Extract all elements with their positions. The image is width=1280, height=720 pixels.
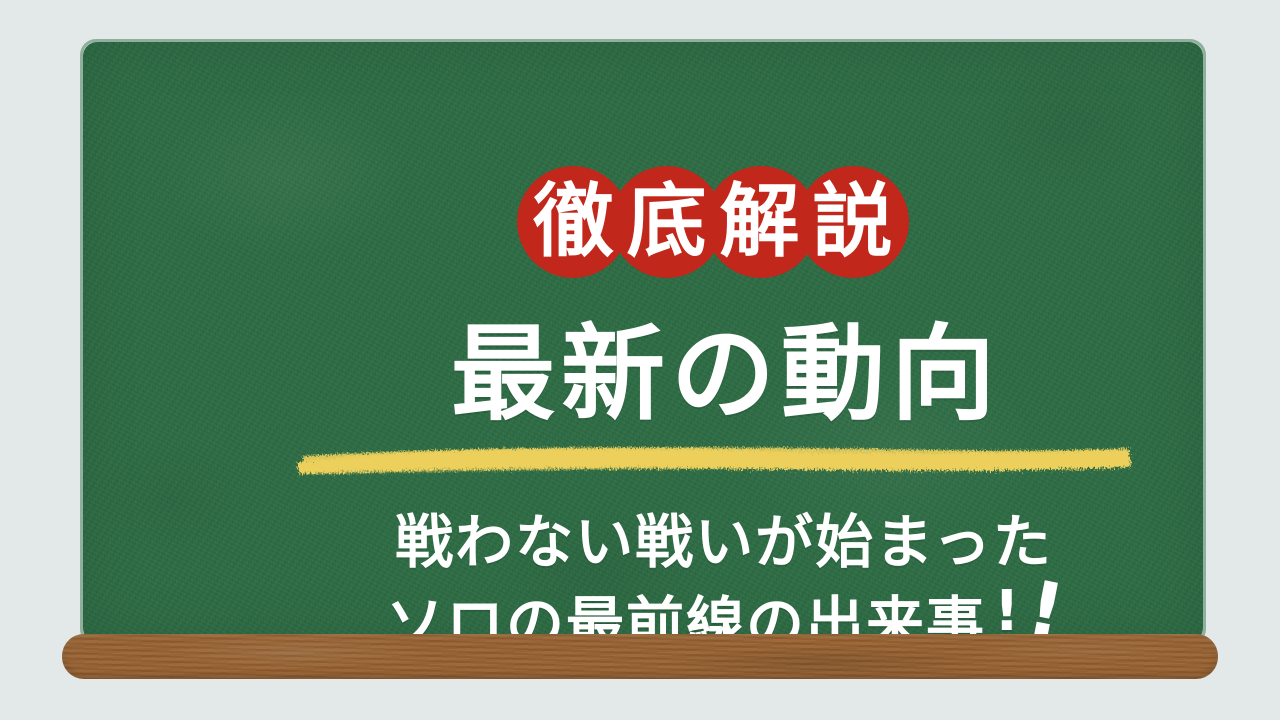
exclamation-small-icon: ! [992, 584, 1022, 640]
subtitle-line-1: 戦わない戦いが始まった [83, 501, 1280, 583]
chalkboard: 徹底解説 最新の動向 [83, 42, 1203, 642]
page-title: 最新の動向 [83, 318, 1280, 430]
slide-canvas: 徹底解説 最新の動向 [0, 0, 1280, 720]
badge-tettei-kaisetsu: 徹底解説 [517, 166, 909, 278]
underline-stroke [293, 438, 1133, 478]
chalk-ledge [62, 634, 1218, 679]
badge-label: 徹底解説 [517, 166, 909, 278]
brush-stroke-icon [293, 438, 1133, 478]
